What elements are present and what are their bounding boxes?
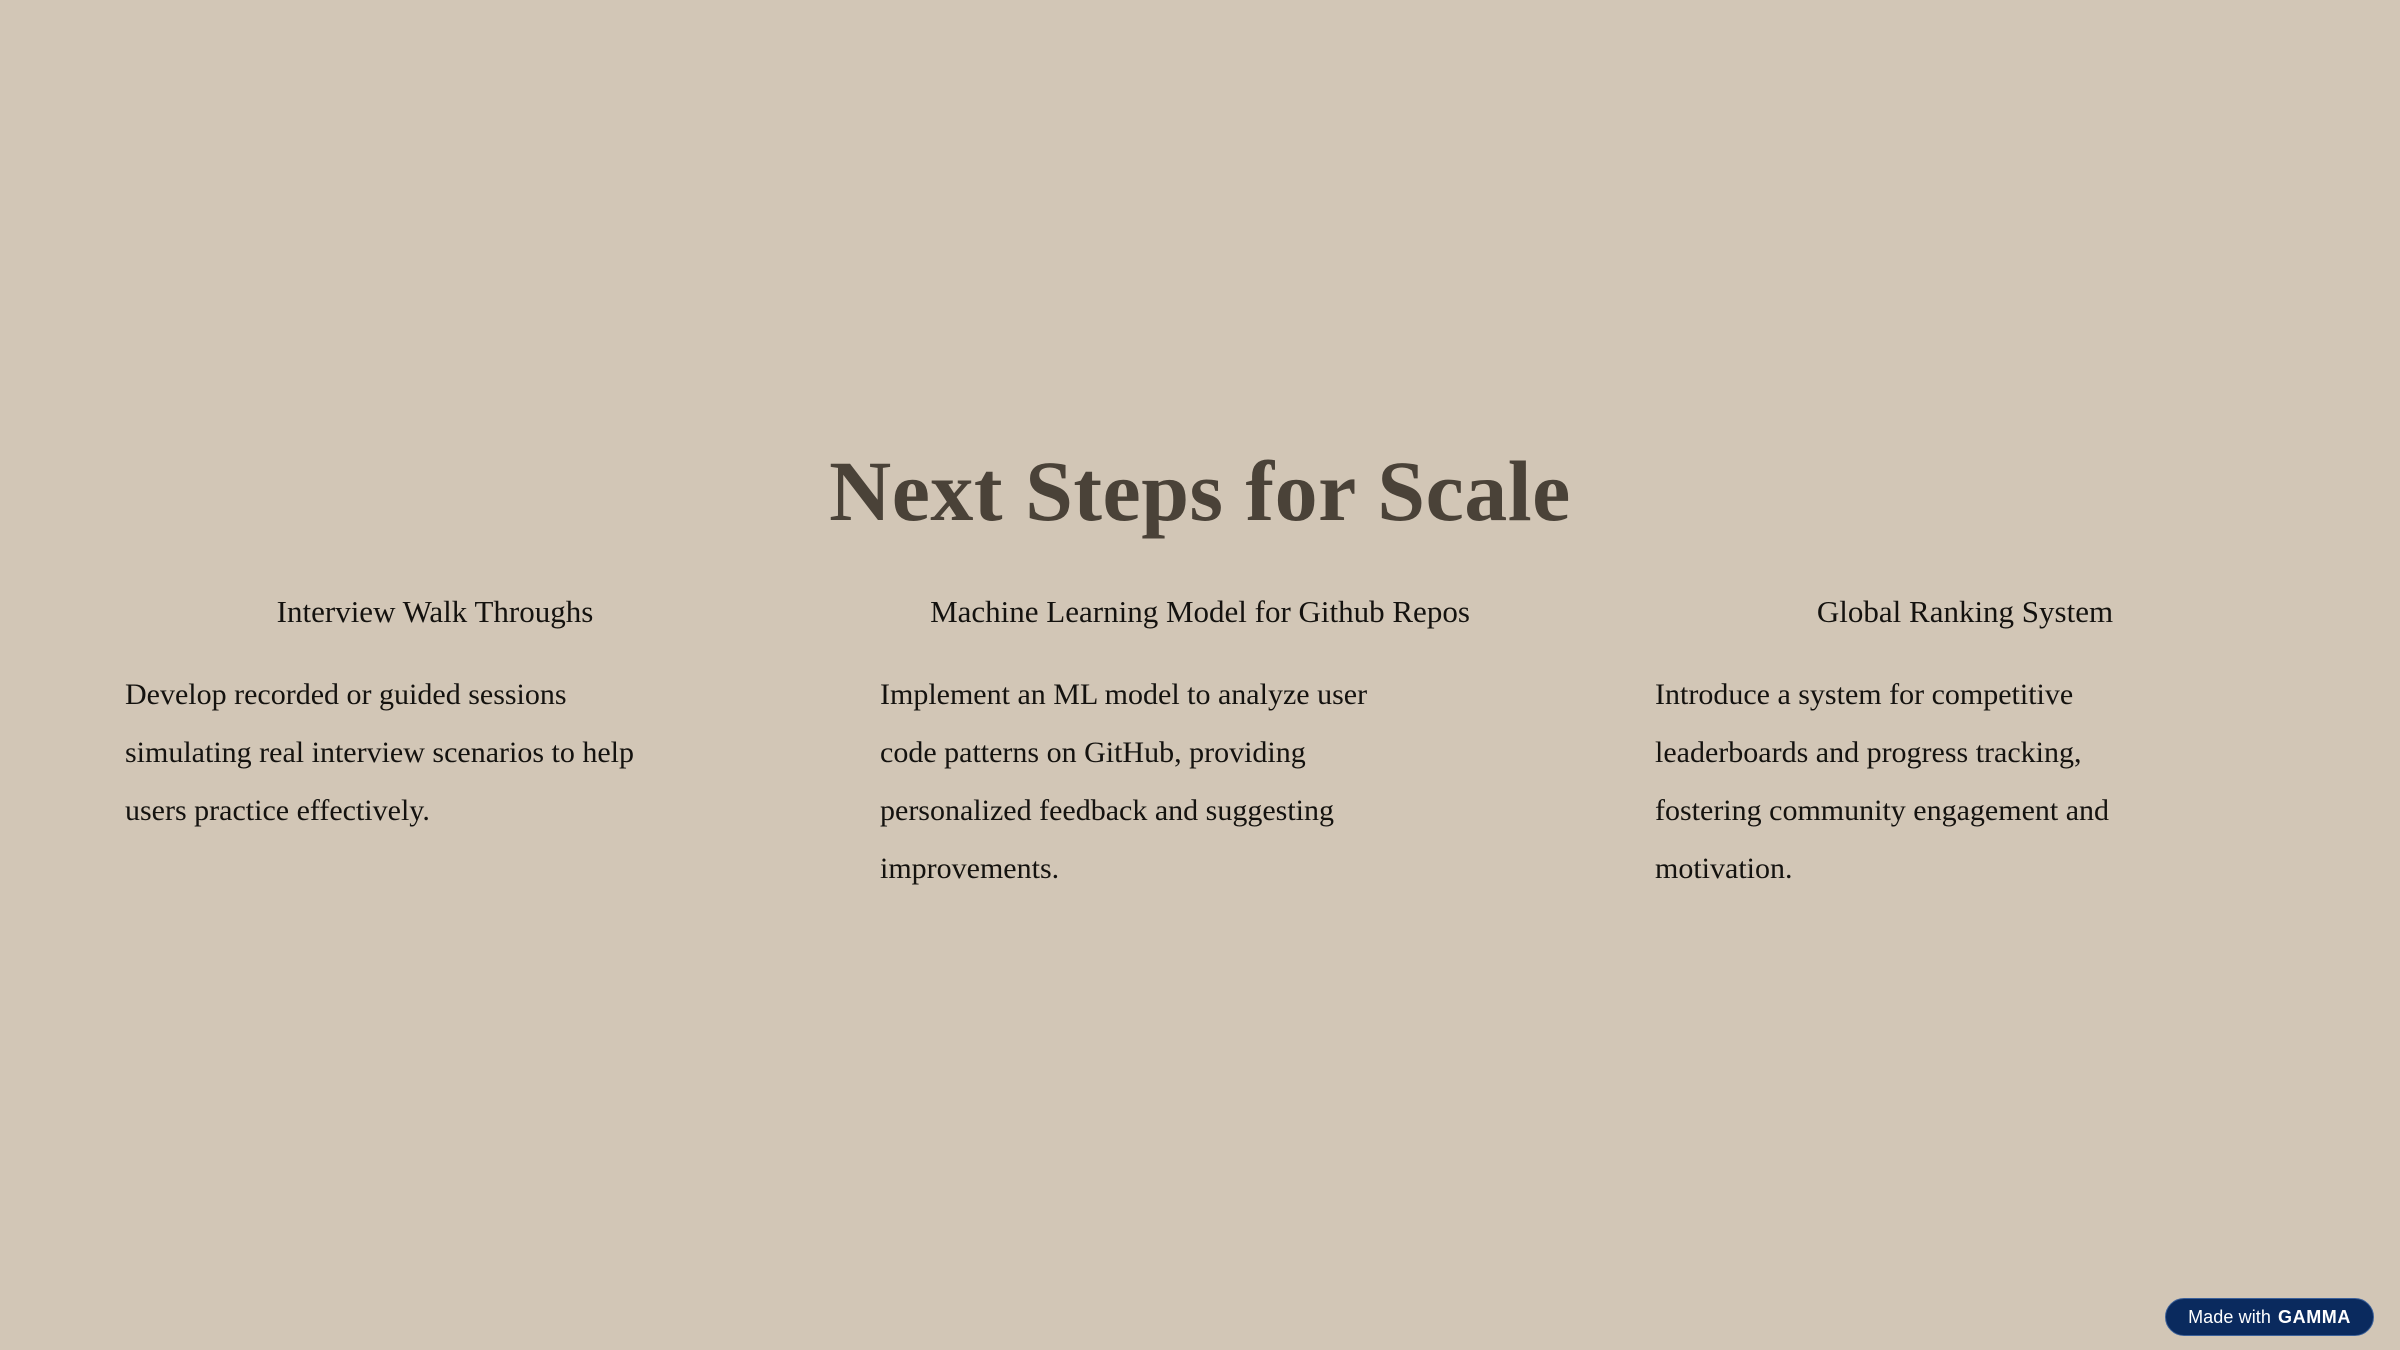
column-body: Implement an ML model to analyze user co…: [880, 666, 1400, 898]
column-interview-walk-throughs: Interview Walk Throughs Develop recorded…: [125, 592, 745, 840]
badge-prefix-label: Made with: [2188, 1308, 2271, 1326]
columns-container: Interview Walk Throughs Develop recorded…: [125, 592, 2275, 898]
column-heading: Global Ranking System: [1655, 592, 2275, 632]
column-ml-model-github-repos: Machine Learning Model for Github Repos …: [880, 592, 1520, 898]
gamma-logo: GAMMA: [2278, 1308, 2351, 1326]
column-body: Introduce a system for competitive leade…: [1655, 666, 2195, 898]
made-with-gamma-badge[interactable]: Made with GAMMA: [2165, 1298, 2374, 1336]
column-heading: Interview Walk Throughs: [125, 592, 745, 632]
column-global-ranking-system: Global Ranking System Introduce a system…: [1655, 592, 2275, 898]
column-body: Develop recorded or guided sessions simu…: [125, 666, 670, 840]
column-heading: Machine Learning Model for Github Repos: [880, 592, 1520, 632]
page-title: Next Steps for Scale: [0, 443, 2400, 539]
slide-canvas: Next Steps for Scale Interview Walk Thro…: [0, 0, 2400, 1350]
